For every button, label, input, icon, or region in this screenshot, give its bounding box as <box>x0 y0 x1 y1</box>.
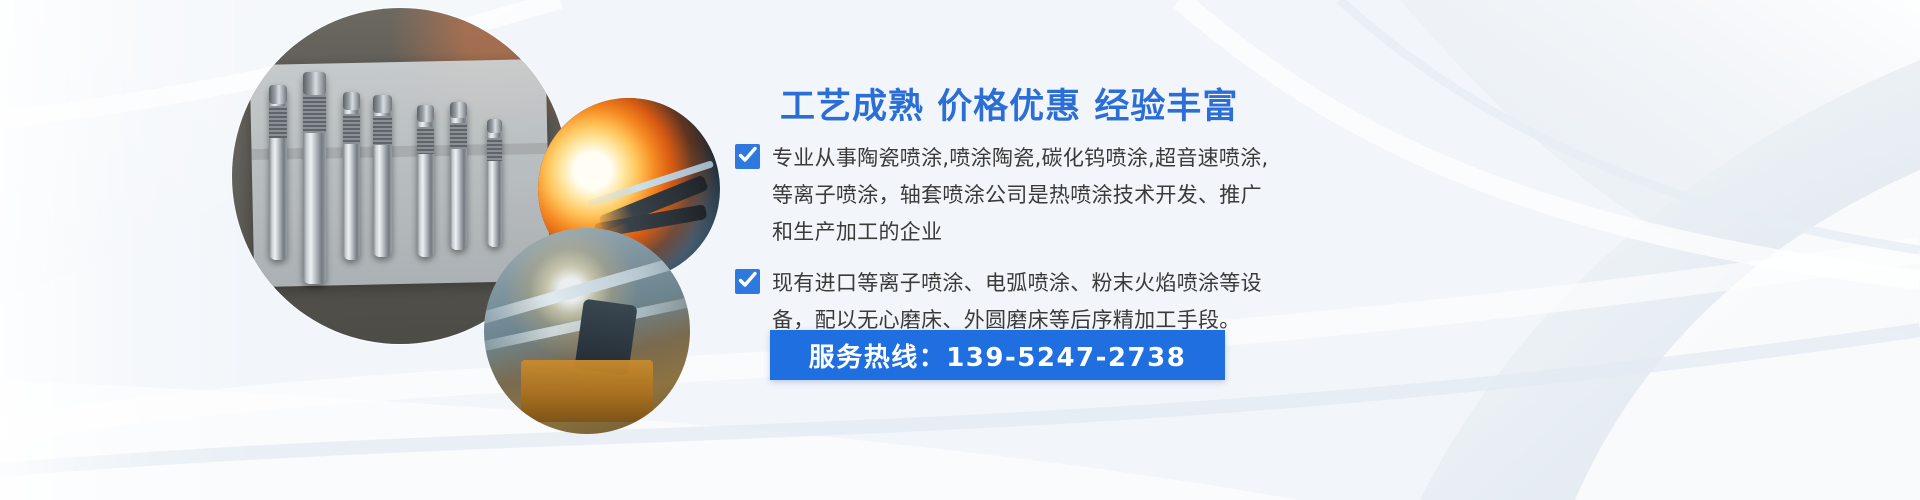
banner-content: 工艺成熟 价格优惠 经验丰富 专业从事陶瓷喷涂,喷涂陶瓷,碳化钨喷涂,超音速喷涂… <box>735 0 1885 500</box>
check-icon <box>735 144 760 169</box>
feature-list: 专业从事陶瓷喷涂,喷涂陶瓷,碳化钨喷涂,超音速喷涂,等离子喷涂，轴套喷涂公司是热… <box>735 140 1835 353</box>
promo-banner: 工艺成熟 价格优惠 经验丰富 专业从事陶瓷喷涂,喷涂陶瓷,碳化钨喷涂,超音速喷涂… <box>0 0 1920 500</box>
check-icon <box>735 269 760 294</box>
feature-text: 专业从事陶瓷喷涂,喷涂陶瓷,碳化钨喷涂,超音速喷涂,等离子喷涂，轴套喷涂公司是热… <box>772 140 1272 251</box>
hotline-text: 服务热线：139-5247-2738 <box>809 337 1187 374</box>
banner-headline: 工艺成熟 价格优惠 经验丰富 <box>780 78 1238 129</box>
feature-item: 专业从事陶瓷喷涂,喷涂陶瓷,碳化钨喷涂,超音速喷涂,等离子喷涂，轴套喷涂公司是热… <box>735 140 1835 251</box>
image-collage <box>0 0 740 500</box>
feature-item: 现有进口等离子喷涂、电弧喷涂、粉末火焰喷涂等设备，配以无心磨床、外圆磨床等后序精… <box>735 265 1835 339</box>
feature-text: 现有进口等离子喷涂、电弧喷涂、粉末火焰喷涂等设备，配以无心磨床、外圆磨床等后序精… <box>772 265 1272 339</box>
hotline-bar[interactable]: 服务热线：139-5247-2738 <box>770 330 1225 380</box>
welding-grinding-photo <box>484 228 690 434</box>
